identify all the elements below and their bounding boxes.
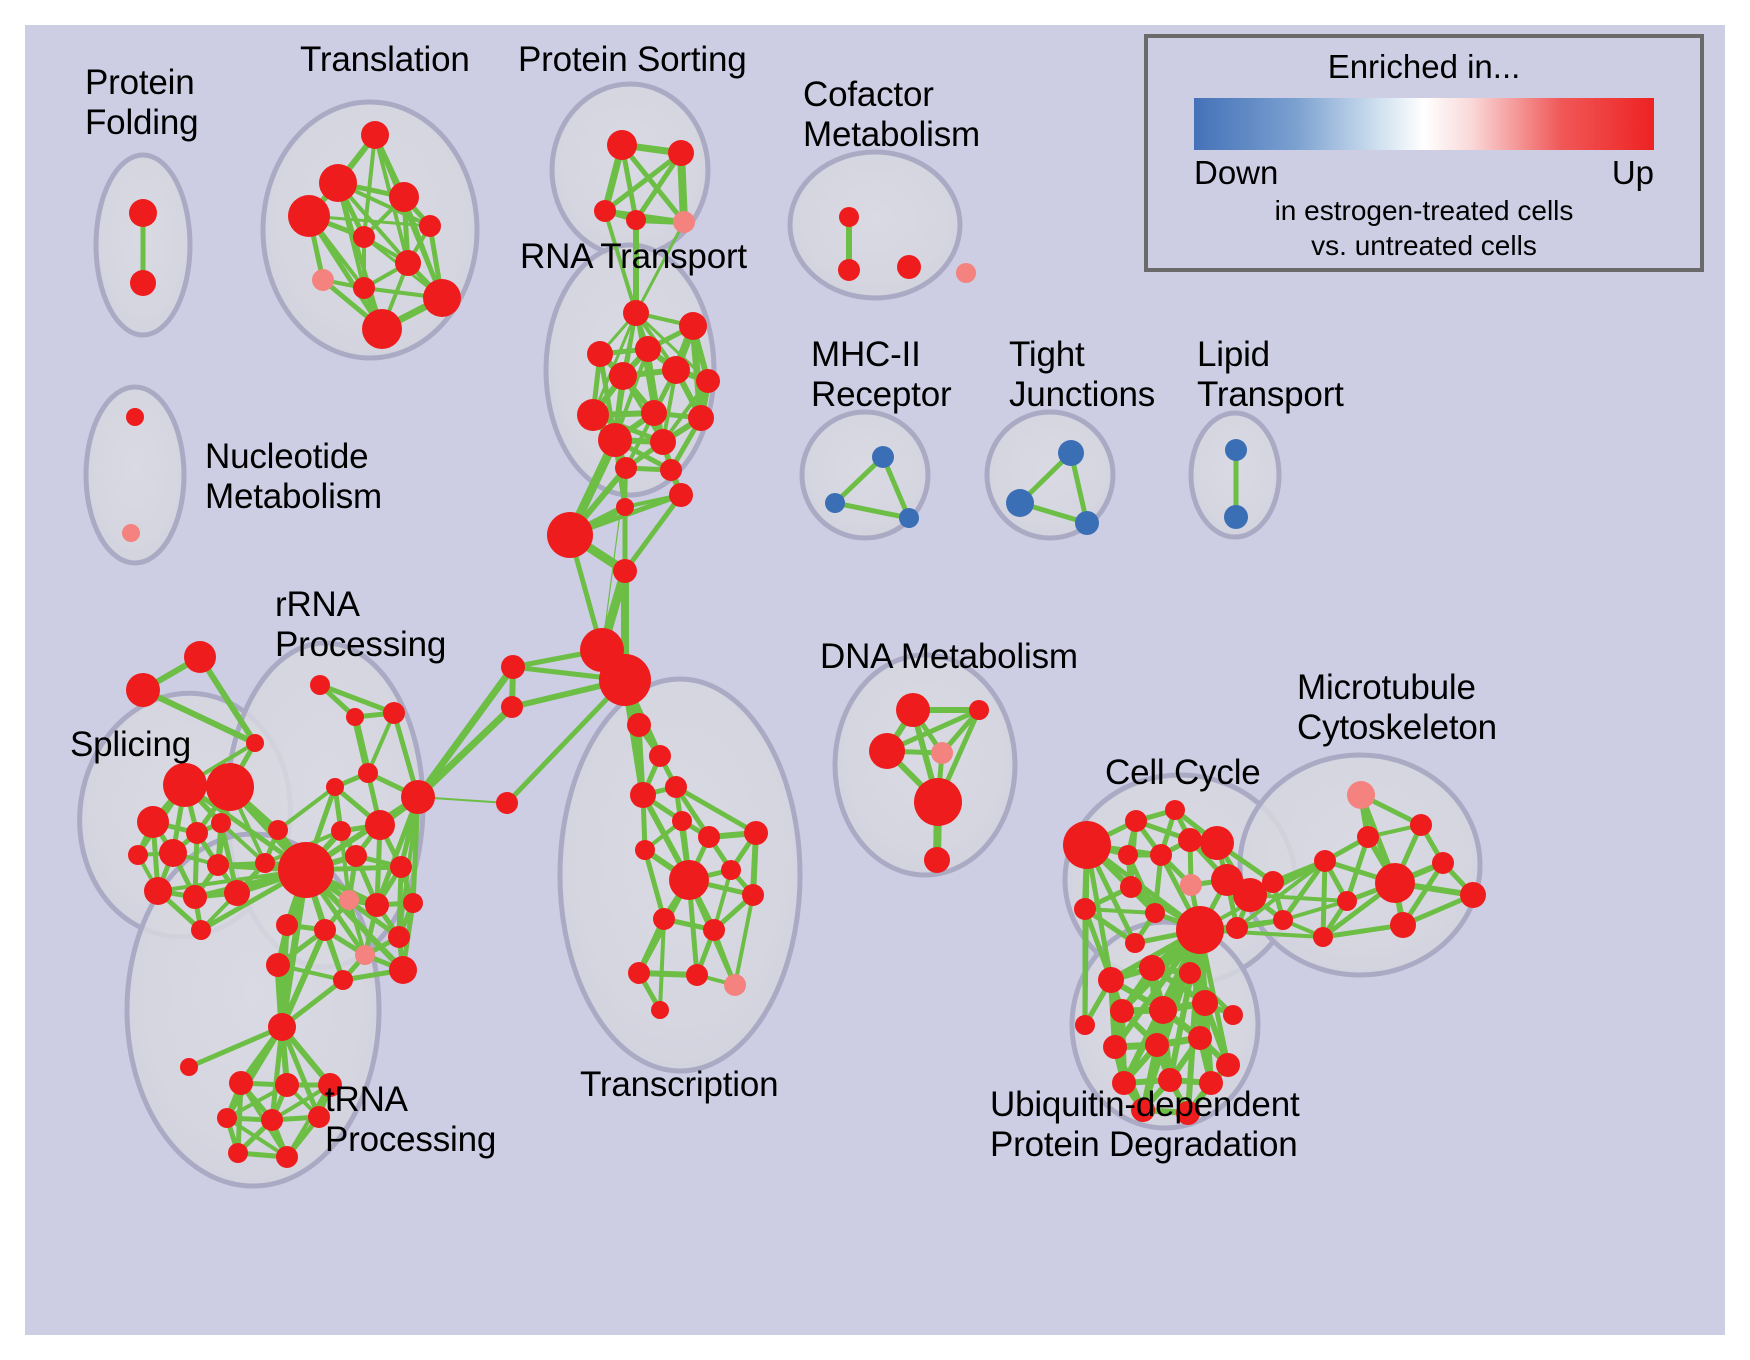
network-node[interactable] xyxy=(1337,891,1357,911)
cluster-label-cofactor-metab: Cofactor Metabolism xyxy=(803,75,980,155)
network-node[interactable] xyxy=(278,842,334,898)
network-node[interactable] xyxy=(1139,955,1165,981)
network-node[interactable] xyxy=(825,493,845,513)
cluster-label-rna-transport: RNA Transport xyxy=(520,237,747,277)
network-node[interactable] xyxy=(395,250,421,276)
network-node[interactable] xyxy=(333,970,353,990)
network-node[interactable] xyxy=(207,854,229,876)
network-node[interactable] xyxy=(388,926,410,948)
network-node[interactable] xyxy=(1165,800,1185,820)
legend-endpoints: Down Up xyxy=(1148,154,1700,192)
network-node[interactable] xyxy=(623,300,649,326)
network-node[interactable] xyxy=(1006,489,1034,517)
network-node[interactable] xyxy=(869,733,905,769)
network-canvas: Protein FoldingTranslationProtein Sortin… xyxy=(25,25,1725,1335)
network-node[interactable] xyxy=(319,164,357,202)
network-node[interactable] xyxy=(1223,1005,1243,1025)
network-node[interactable] xyxy=(401,780,435,814)
network-node[interactable] xyxy=(361,121,389,149)
network-node[interactable] xyxy=(627,713,651,737)
network-node[interactable] xyxy=(1375,863,1415,903)
network-node[interactable] xyxy=(355,945,375,965)
network-node[interactable] xyxy=(1226,917,1248,939)
network-node[interactable] xyxy=(310,675,330,695)
network-node[interactable] xyxy=(419,215,441,237)
network-node[interactable] xyxy=(660,459,682,481)
network-node[interactable] xyxy=(362,309,402,349)
network-node[interactable] xyxy=(688,405,714,431)
network-node[interactable] xyxy=(1225,439,1247,461)
cluster-label-protein-folding: Protein Folding xyxy=(85,63,198,143)
network-node[interactable] xyxy=(1314,850,1336,872)
network-node[interactable] xyxy=(130,270,156,296)
cluster-label-lipid-transport: Lipid Transport xyxy=(1197,335,1344,415)
network-node[interactable] xyxy=(1150,844,1172,866)
network-node[interactable] xyxy=(1390,912,1416,938)
network-node[interactable] xyxy=(1063,821,1111,869)
network-node[interactable] xyxy=(389,182,419,212)
network-node[interactable] xyxy=(1176,906,1224,954)
network-node[interactable] xyxy=(1145,903,1165,923)
network-node[interactable] xyxy=(501,696,523,718)
network-node[interactable] xyxy=(1179,962,1201,984)
cluster-label-splicing: Splicing xyxy=(70,725,191,765)
network-node[interactable] xyxy=(211,813,231,833)
network-node[interactable] xyxy=(635,336,661,362)
network-node[interactable] xyxy=(721,860,741,880)
network-node[interactable] xyxy=(607,130,637,160)
legend-high-label: Up xyxy=(1612,154,1654,192)
network-node[interactable] xyxy=(650,429,676,455)
network-node[interactable] xyxy=(598,423,632,457)
network-node[interactable] xyxy=(1120,876,1142,898)
cluster-ellipse xyxy=(790,152,960,298)
color-gradient-bar xyxy=(1194,98,1654,150)
network-node[interactable] xyxy=(1224,505,1248,529)
network-node[interactable] xyxy=(217,1108,237,1128)
network-node[interactable] xyxy=(206,763,254,811)
network-node[interactable] xyxy=(1058,440,1084,466)
network-node[interactable] xyxy=(662,356,690,384)
network-node[interactable] xyxy=(696,369,720,393)
network-node[interactable] xyxy=(224,880,250,906)
network-node[interactable] xyxy=(897,255,921,279)
figure-stage: Protein FoldingTranslationProtein Sortin… xyxy=(0,0,1750,1360)
legend-caption-line2: vs. untreated cells xyxy=(1148,229,1700,262)
network-node[interactable] xyxy=(268,820,288,840)
network-node[interactable] xyxy=(969,700,989,720)
network-node[interactable] xyxy=(1125,810,1147,832)
legend-title: Enriched in... xyxy=(1148,48,1700,86)
network-node[interactable] xyxy=(390,856,412,878)
network-node[interactable] xyxy=(365,893,389,917)
network-node[interactable] xyxy=(389,956,417,984)
network-node[interactable] xyxy=(914,778,962,826)
network-node[interactable] xyxy=(128,845,148,865)
network-node[interactable] xyxy=(547,512,593,558)
network-node[interactable] xyxy=(1125,933,1145,953)
network-node[interactable] xyxy=(672,811,692,831)
cluster-label-mhc-ii-receptor: MHC-II Receptor xyxy=(811,335,951,415)
cluster-label-translation: Translation xyxy=(300,40,470,80)
network-node[interactable] xyxy=(669,860,709,900)
network-node[interactable] xyxy=(1075,511,1099,535)
network-node[interactable] xyxy=(159,839,187,867)
network-node[interactable] xyxy=(345,845,367,867)
network-node[interactable] xyxy=(641,400,667,426)
network-node[interactable] xyxy=(649,745,671,767)
network-node[interactable] xyxy=(679,312,707,340)
cluster-label-ubiquitin: Ubiquitin-dependent Protein Degradation xyxy=(990,1085,1300,1165)
network-node[interactable] xyxy=(288,195,330,237)
network-node[interactable] xyxy=(668,140,694,166)
network-node[interactable] xyxy=(931,742,953,764)
network-node[interactable] xyxy=(599,654,651,706)
network-node[interactable] xyxy=(1233,878,1267,912)
network-node[interactable] xyxy=(403,893,423,913)
network-node[interactable] xyxy=(742,884,764,906)
network-node[interactable] xyxy=(1200,826,1234,860)
network-node[interactable] xyxy=(129,199,157,227)
network-node[interactable] xyxy=(838,259,860,281)
legend-low-label: Down xyxy=(1194,154,1278,192)
network-node[interactable] xyxy=(1110,999,1134,1023)
network-node[interactable] xyxy=(126,673,160,707)
network-node[interactable] xyxy=(616,498,634,516)
network-node[interactable] xyxy=(353,226,375,248)
legend-caption-line1: in estrogen-treated cells xyxy=(1148,194,1700,227)
cluster-label-transcription: Transcription xyxy=(580,1065,778,1105)
network-node[interactable] xyxy=(261,1109,283,1131)
network-node[interactable] xyxy=(186,822,208,844)
network-node[interactable] xyxy=(1118,845,1138,865)
network-node[interactable] xyxy=(496,792,518,814)
network-node[interactable] xyxy=(346,708,364,726)
cluster-label-cell-cycle: Cell Cycle xyxy=(1105,753,1261,793)
network-node[interactable] xyxy=(1460,882,1486,908)
network-node[interactable] xyxy=(665,776,687,798)
network-node[interactable] xyxy=(163,763,207,807)
network-node[interactable] xyxy=(899,508,919,528)
network-node[interactable] xyxy=(383,702,405,724)
network-node[interactable] xyxy=(872,446,894,468)
network-edge xyxy=(418,667,513,797)
network-node[interactable] xyxy=(1103,1035,1127,1059)
network-node[interactable] xyxy=(229,1071,253,1095)
network-node[interactable] xyxy=(1432,852,1454,874)
network-node[interactable] xyxy=(358,763,378,783)
network-node[interactable] xyxy=(896,693,930,727)
network-node[interactable] xyxy=(1313,927,1333,947)
network-node[interactable] xyxy=(339,890,359,910)
network-node[interactable] xyxy=(1074,898,1096,920)
network-node[interactable] xyxy=(635,840,655,860)
network-node[interactable] xyxy=(144,877,172,905)
network-node[interactable] xyxy=(246,734,264,752)
network-node[interactable] xyxy=(255,853,275,873)
legend-panel: Enriched in... Down Up in estrogen-treat… xyxy=(1144,34,1704,272)
network-node[interactable] xyxy=(423,279,461,317)
network-node[interactable] xyxy=(698,826,720,848)
network-node[interactable] xyxy=(587,341,613,367)
network-node[interactable] xyxy=(122,524,140,542)
network-node[interactable] xyxy=(669,483,693,507)
network-node[interactable] xyxy=(1410,814,1432,836)
network-node[interactable] xyxy=(1098,967,1124,993)
network-node[interactable] xyxy=(137,806,169,838)
network-node[interactable] xyxy=(628,962,650,984)
network-node[interactable] xyxy=(1357,826,1379,848)
network-node[interactable] xyxy=(1075,1015,1095,1035)
network-node[interactable] xyxy=(1188,1026,1212,1050)
network-node[interactable] xyxy=(924,847,950,873)
network-node[interactable] xyxy=(626,210,646,230)
network-node[interactable] xyxy=(1347,781,1375,809)
network-node[interactable] xyxy=(1145,1033,1169,1057)
network-edge xyxy=(1323,861,1325,937)
network-node[interactable] xyxy=(266,953,290,977)
cluster-label-dna-metabolism: DNA Metabolism xyxy=(820,637,1078,677)
network-node[interactable] xyxy=(1192,990,1218,1016)
network-node[interactable] xyxy=(353,277,375,299)
network-node[interactable] xyxy=(1180,874,1202,896)
network-node[interactable] xyxy=(703,919,725,941)
network-node[interactable] xyxy=(184,641,216,673)
network-node[interactable] xyxy=(326,778,344,796)
cluster-label-trna-processing: tRNA Processing xyxy=(325,1080,496,1160)
network-node[interactable] xyxy=(1216,1053,1240,1077)
network-node[interactable] xyxy=(191,920,211,940)
network-node[interactable] xyxy=(331,821,351,841)
network-node[interactable] xyxy=(126,408,144,426)
network-edge xyxy=(418,707,512,797)
network-node[interactable] xyxy=(609,362,637,390)
network-node[interactable] xyxy=(314,919,336,941)
network-node[interactable] xyxy=(276,1146,298,1168)
network-node[interactable] xyxy=(1262,871,1284,893)
cluster-label-tight-junctions: Tight Junctions xyxy=(1009,335,1155,415)
network-node[interactable] xyxy=(276,914,298,936)
network-node[interactable] xyxy=(744,821,768,845)
network-node[interactable] xyxy=(686,964,708,986)
network-node[interactable] xyxy=(839,207,859,227)
cluster-label-protein-sorting: Protein Sorting xyxy=(518,40,747,80)
network-node[interactable] xyxy=(180,1058,198,1076)
network-node[interactable] xyxy=(613,559,637,583)
network-node[interactable] xyxy=(501,655,525,679)
network-node[interactable] xyxy=(653,908,675,930)
network-node[interactable] xyxy=(228,1143,248,1163)
network-node[interactable] xyxy=(651,1001,669,1019)
network-node[interactable] xyxy=(275,1073,299,1097)
cluster-label-rrna-processing: rRNA Processing xyxy=(275,585,446,665)
network-node[interactable] xyxy=(615,457,637,479)
network-node[interactable] xyxy=(724,974,746,996)
cluster-label-nucleotide-metab: Nucleotide Metabolism xyxy=(205,437,382,517)
network-node[interactable] xyxy=(1178,828,1202,852)
cluster-label-microtubule: Microtubule Cytoskeleton xyxy=(1297,668,1497,748)
network-node[interactable] xyxy=(268,1013,296,1041)
network-node[interactable] xyxy=(1273,910,1293,930)
network-node[interactable] xyxy=(1149,996,1177,1024)
network-node[interactable] xyxy=(183,885,207,909)
network-node[interactable] xyxy=(630,782,656,808)
network-node[interactable] xyxy=(365,810,395,840)
network-node[interactable] xyxy=(312,269,334,291)
network-node[interactable] xyxy=(956,263,976,283)
network-node[interactable] xyxy=(594,200,616,222)
network-node[interactable] xyxy=(577,399,609,431)
network-node[interactable] xyxy=(673,211,695,233)
